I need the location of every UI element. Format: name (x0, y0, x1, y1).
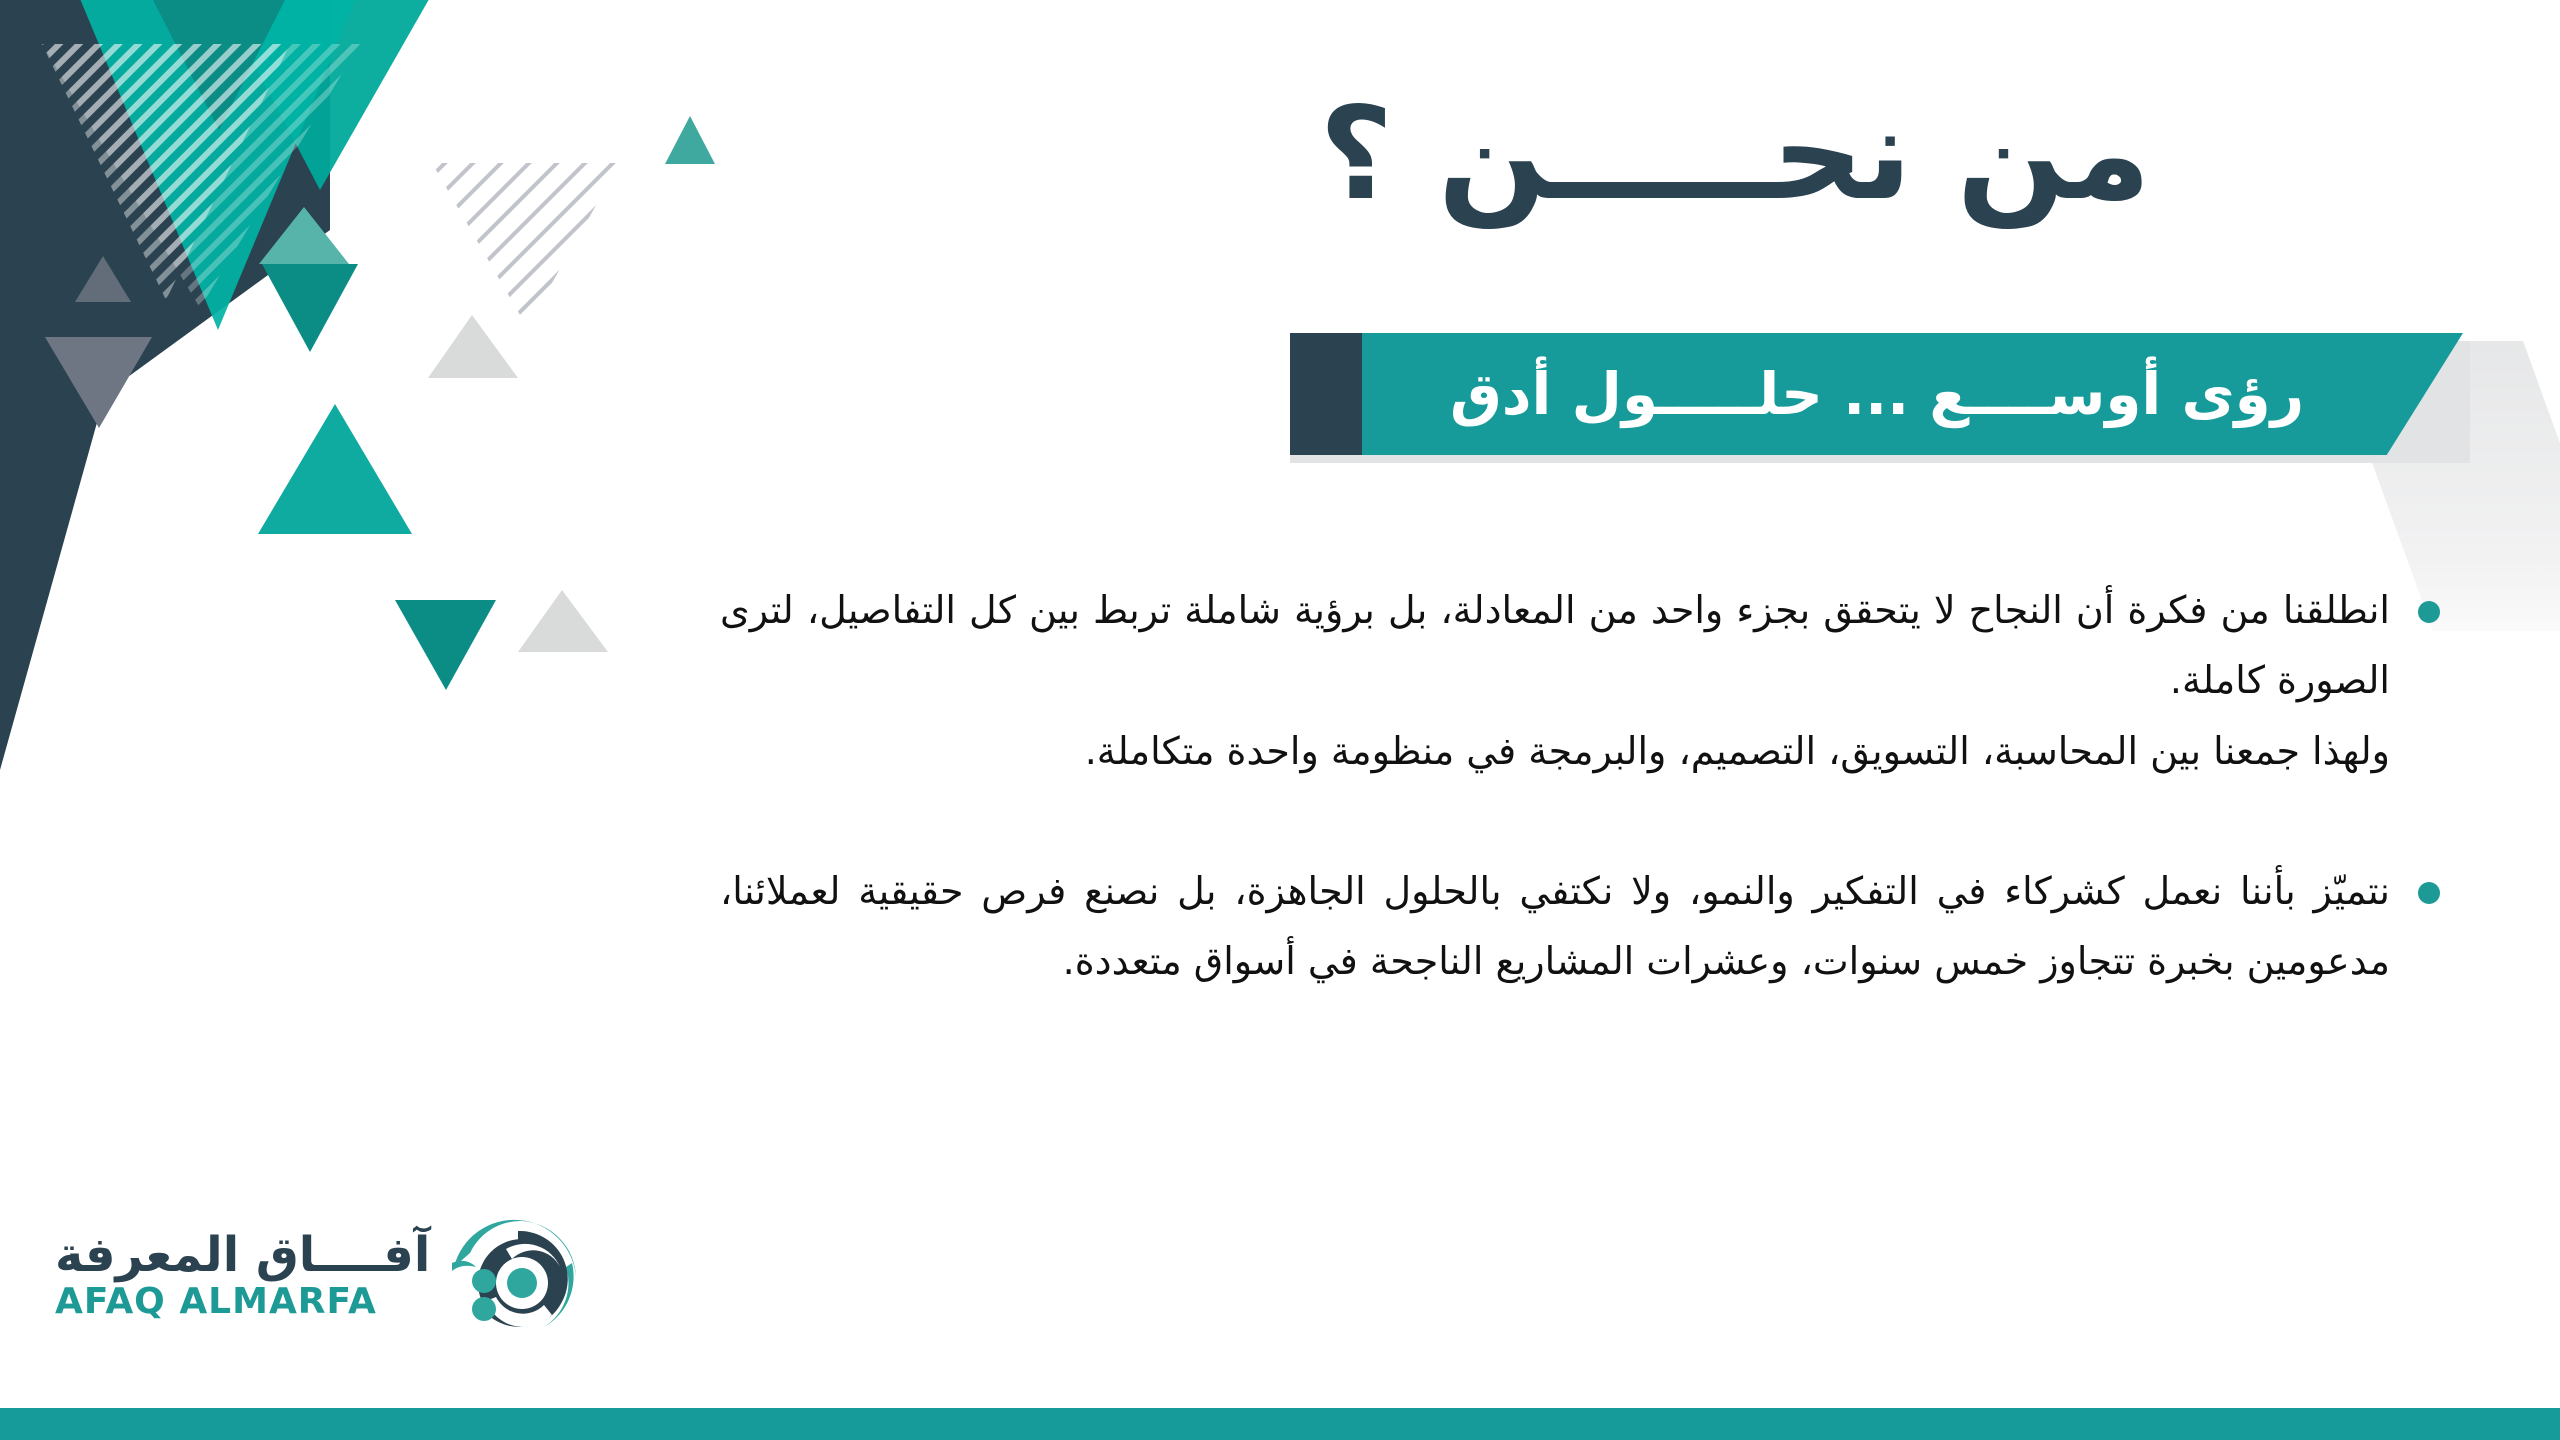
teal-triangle-accent-right (665, 116, 715, 164)
hatched-triangle-right (380, 20, 780, 350)
slide-canvas: من نحـــــن ؟ رؤى أوســــع ... حلـــــول… (0, 0, 2560, 1440)
bullet-1-line-1: انطلقنا من فكرة أن النجاح لا يتحقق بجزء … (720, 575, 2390, 716)
bullet-dot-icon (2418, 882, 2440, 904)
logo-dot-lower (472, 1297, 496, 1321)
logo-arc-tail (452, 1261, 476, 1271)
logo-wordmark: آفــــاق المعرفة AFAQ ALMARFA (55, 1229, 430, 1321)
logo-dot-upper (472, 1269, 496, 1293)
bullet-text-1: انطلقنا من فكرة أن النجاح لا يتحقق بجزء … (720, 575, 2390, 786)
footer-accent-bar (0, 1408, 2560, 1440)
logo-english-name: AFAQ ALMARFA (55, 1282, 430, 1322)
logo-arabic-name: آفــــاق المعرفة (55, 1229, 430, 1282)
bullet-block-2: نتميّز بأننا نعمل كشركاء في التفكير والن… (720, 856, 2440, 997)
bullet-2-line-1: نتميّز بأننا نعمل كشركاء في التفكير والن… (720, 856, 2390, 997)
decorative-triangles-artwork (0, 0, 780, 840)
subtitle-banner: رؤى أوســــع ... حلـــــول أدق (1290, 333, 2560, 523)
page-title-area: من نحـــــن ؟ (1160, 85, 2310, 226)
teal-triangle-down-bottom (395, 600, 496, 690)
bullet-text-2: نتميّز بأننا نعمل كشركاء في التفكير والن… (720, 856, 2390, 997)
banner-navy-block (1290, 333, 1362, 455)
logo-inner-teal-dot (507, 1268, 537, 1298)
bullet-1-line-2: ولهذا جمعنا بين المحاسبة، التسويق، التصم… (720, 716, 2390, 786)
bullet-dot-icon (2418, 601, 2440, 623)
teal-triangle-dark-down (262, 264, 358, 352)
grey-triangle-bottom (518, 590, 608, 652)
grey-triangle-mid (428, 315, 518, 378)
company-logo: آفــــاق المعرفة AFAQ ALMARFA (55, 1205, 588, 1345)
afaq-almarfa-logo-icon (448, 1205, 588, 1345)
bullet-block-1: انطلقنا من فكرة أن النجاح لا يتحقق بجزء … (720, 575, 2440, 786)
body-content: انطلقنا من فكرة أن النجاح لا يتحقق بجزء … (720, 575, 2440, 1066)
page-title: من نحـــــن ؟ (1160, 85, 2310, 226)
teal-triangle-big-bottom (258, 404, 412, 534)
subtitle-text: رؤى أوســــع ... حلـــــول أدق (1362, 333, 2392, 455)
